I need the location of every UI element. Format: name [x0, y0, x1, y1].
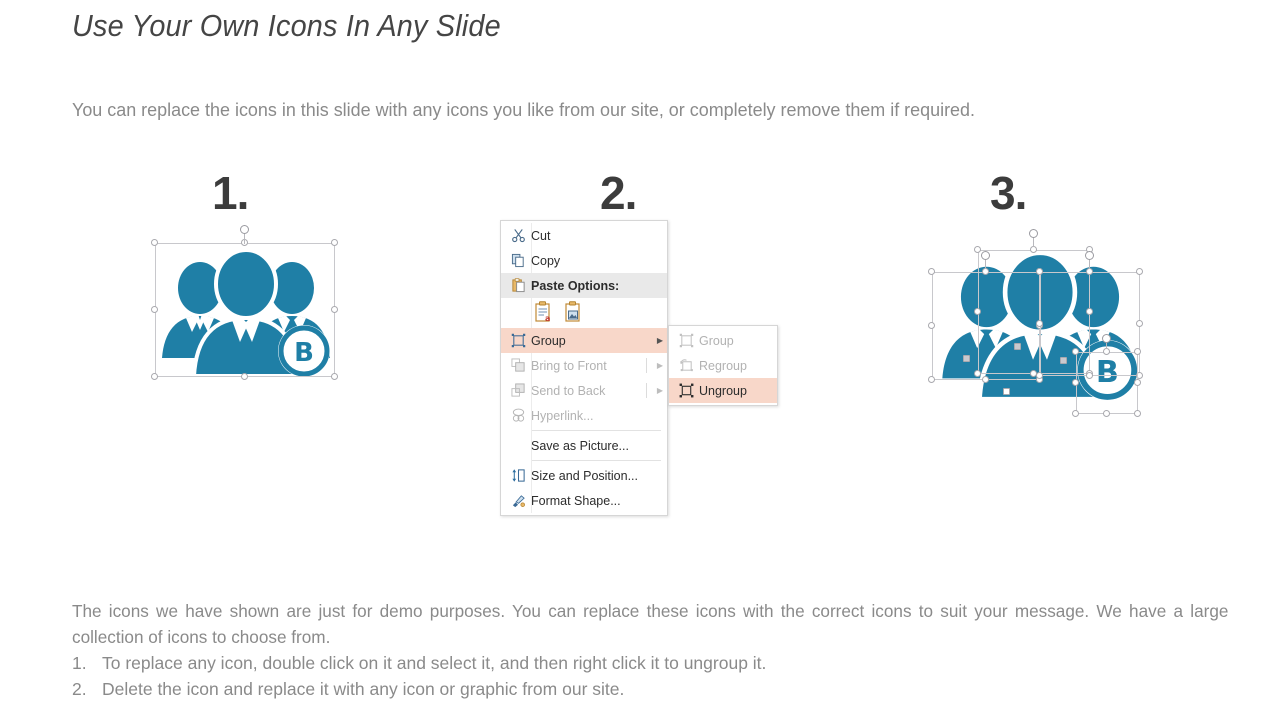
- step-number-2: 2.: [600, 170, 636, 216]
- menu-item-group[interactable]: Group ▶: [501, 328, 667, 353]
- shape-handle[interactable]: [1072, 348, 1079, 355]
- scissors-icon: [505, 226, 531, 246]
- vertex-handle[interactable]: [1014, 343, 1021, 350]
- page-title: Use Your Own Icons In Any Slide: [72, 8, 501, 44]
- menu-item-label: Paste Options:: [531, 279, 667, 293]
- submenu-item-ungroup[interactable]: Ungroup: [669, 378, 777, 403]
- shape-handle[interactable]: [1036, 320, 1043, 327]
- format-shape-icon: [505, 491, 531, 511]
- menu-item-send-to-back[interactable]: Send to Back ▶: [501, 378, 667, 403]
- submenu-item-label: Group: [699, 334, 777, 348]
- group-icon: [673, 331, 699, 351]
- shape-handle[interactable]: [1136, 268, 1143, 275]
- shape-handle[interactable]: [1086, 268, 1093, 275]
- submenu-item-regroup[interactable]: Regroup: [669, 353, 777, 378]
- regroup-icon: [673, 356, 699, 376]
- menu-item-cut[interactable]: Cut: [501, 223, 667, 248]
- rotation-handle[interactable]: [1085, 251, 1094, 260]
- shape-handle[interactable]: [928, 376, 935, 383]
- list-item-number: 1.: [72, 650, 102, 676]
- list-item-text: Delete the icon and replace it with any …: [102, 676, 624, 702]
- menu-item-format-shape[interactable]: Format Shape...: [501, 488, 667, 513]
- shape-handle[interactable]: [1030, 246, 1037, 253]
- chevron-right-icon: ▶: [653, 336, 667, 345]
- menu-item-label: Format Shape...: [531, 494, 667, 508]
- paste-icon: [505, 276, 531, 296]
- selection-handle-ne[interactable]: [331, 239, 338, 246]
- shape-handle[interactable]: [1134, 348, 1141, 355]
- selection-bounding-box[interactable]: [155, 243, 335, 377]
- step-number-1: 1.: [212, 170, 248, 216]
- bottom-instruction-list: 1. To replace any icon, double click on …: [72, 650, 1172, 702]
- vertex-handle[interactable]: [1060, 357, 1067, 364]
- menu-item-bring-to-front[interactable]: Bring to Front ▶: [501, 353, 667, 378]
- shape-handle[interactable]: [1103, 410, 1110, 417]
- rotation-handle[interactable]: [1029, 229, 1038, 238]
- list-item-number: 2.: [72, 676, 102, 702]
- menu-item-copy[interactable]: Copy: [501, 248, 667, 273]
- menu-item-size-and-position[interactable]: Size and Position...: [501, 463, 667, 488]
- shape-handle[interactable]: [974, 308, 981, 315]
- group-submenu[interactable]: Group Regroup: [668, 325, 778, 406]
- selection-handle-w[interactable]: [151, 306, 158, 313]
- shape-handle[interactable]: [1036, 268, 1043, 275]
- selection-handle-nw[interactable]: [151, 239, 158, 246]
- menu-item-divider: [646, 383, 647, 398]
- menu-item-label: Bring to Front: [531, 359, 653, 373]
- rotation-handle[interactable]: [1102, 334, 1111, 343]
- menu-separator: [531, 460, 661, 461]
- submenu-item-group[interactable]: Group: [669, 328, 777, 353]
- menu-item-label: Copy: [531, 254, 667, 268]
- chevron-right-icon: ▶: [653, 386, 667, 395]
- send-to-back-icon: [505, 381, 531, 401]
- slide-canvas: Use Your Own Icons In Any Slide You can …: [0, 0, 1280, 720]
- submenu-item-label: Ungroup: [699, 384, 777, 398]
- shape-handle[interactable]: [974, 370, 981, 377]
- shape-handle[interactable]: [974, 246, 981, 253]
- shape-handle[interactable]: [1072, 379, 1079, 386]
- shape-handle[interactable]: [928, 322, 935, 329]
- shape-handle[interactable]: [1036, 372, 1043, 379]
- menu-item-label: Group: [531, 334, 653, 348]
- menu-item-label: Send to Back: [531, 384, 653, 398]
- rotation-handle[interactable]: [240, 225, 249, 234]
- step-number-3: 3.: [990, 170, 1026, 216]
- bottom-paragraph: The icons we have shown are just for dem…: [72, 598, 1228, 650]
- ungroup-icon: [673, 381, 699, 401]
- shape-selection-box-badge[interactable]: [1076, 352, 1138, 414]
- menu-item-label: Save as Picture...: [531, 439, 667, 453]
- menu-item-save-as-picture[interactable]: Save as Picture...: [501, 433, 667, 458]
- paste-keep-source-formatting-icon[interactable]: a: [533, 301, 553, 326]
- chevron-right-icon: ▶: [653, 361, 667, 370]
- menu-item-label: Hyperlink...: [531, 409, 667, 423]
- shape-handle[interactable]: [1103, 348, 1110, 355]
- paste-options-row[interactable]: a: [501, 298, 667, 328]
- hyperlink-icon: [505, 406, 531, 426]
- bring-to-front-icon: [505, 356, 531, 376]
- menu-item-label: Cut: [531, 229, 667, 243]
- selection-handle-se[interactable]: [331, 373, 338, 380]
- list-item: 2. Delete the icon and replace it with a…: [72, 676, 1172, 702]
- shape-handle[interactable]: [1134, 410, 1141, 417]
- selection-handle-sw[interactable]: [151, 373, 158, 380]
- menu-item-divider: [646, 358, 647, 373]
- list-item: 1. To replace any icon, double click on …: [72, 650, 1172, 676]
- menu-item-hyperlink[interactable]: Hyperlink...: [501, 403, 667, 428]
- group-icon: [505, 331, 531, 351]
- copy-icon: [505, 251, 531, 271]
- shape-handle[interactable]: [1072, 410, 1079, 417]
- vertex-handle[interactable]: [1003, 388, 1010, 395]
- paste-picture-icon[interactable]: [563, 301, 583, 326]
- no-icon: [505, 436, 531, 456]
- shape-handle[interactable]: [1136, 320, 1143, 327]
- context-menu[interactable]: Cut Copy Paste Options:: [500, 220, 668, 516]
- list-item-text: To replace any icon, double click on it …: [102, 650, 766, 676]
- vertex-handle[interactable]: [963, 355, 970, 362]
- submenu-item-label: Regroup: [699, 359, 777, 373]
- size-position-icon: [505, 466, 531, 486]
- intro-paragraph: You can replace the icons in this slide …: [72, 95, 1154, 125]
- svg-text:a: a: [545, 314, 550, 323]
- menu-item-paste-options: Paste Options:: [501, 273, 667, 298]
- shape-handle[interactable]: [982, 376, 989, 383]
- selection-handle-e[interactable]: [331, 306, 338, 313]
- shape-handle[interactable]: [1134, 379, 1141, 386]
- menu-separator: [531, 430, 661, 431]
- shape-handle[interactable]: [928, 268, 935, 275]
- selection-handle-s[interactable]: [241, 373, 248, 380]
- menu-item-label: Size and Position...: [531, 469, 667, 483]
